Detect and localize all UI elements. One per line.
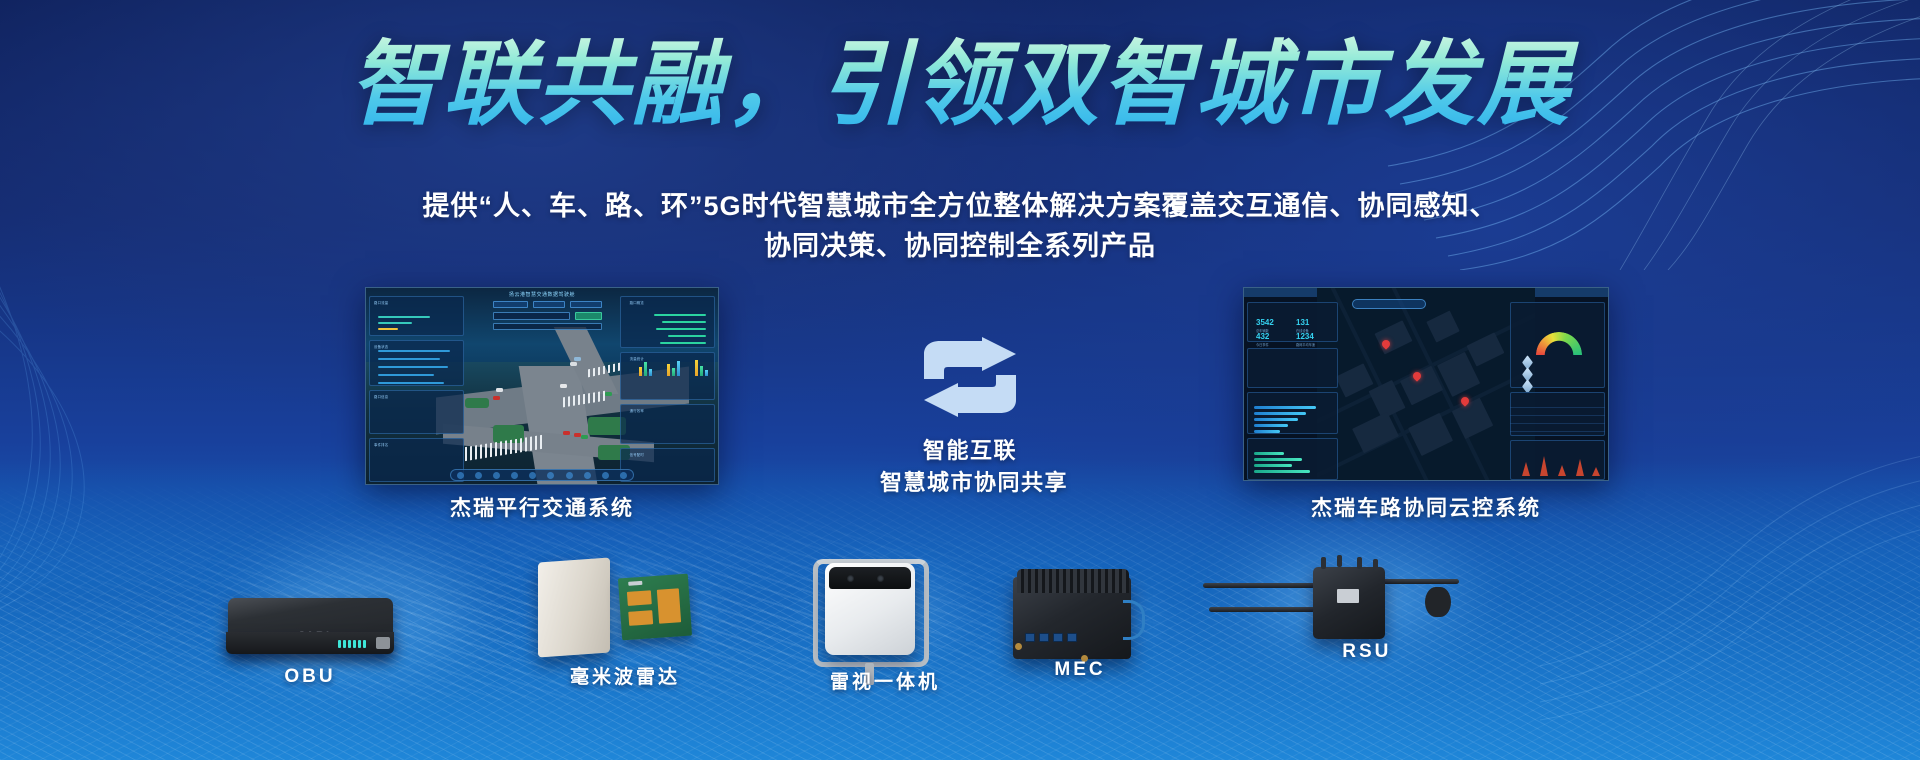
mec-antenna-connector-left [1015, 643, 1022, 650]
exchange-line-1: 智能互联 [880, 435, 1060, 467]
mec-io-ports [1025, 633, 1077, 642]
screenshot-cloud-control-system[interactable]: 杰瑞车路协同云控系统 [1243, 287, 1609, 481]
product-label-mec: MEC [1054, 659, 1105, 681]
subtitle-line-1: 提供“人、车、路、环”5G时代智慧城市全方位整体解决方案覆盖交互通信、协同感知、 [0, 186, 1920, 226]
camera-lens-strip [829, 567, 911, 589]
subtitle-line-2: 协同决策、协同控制全系列产品 [0, 226, 1920, 266]
caption-parallel-traffic-system: 杰瑞平行交通系统 [365, 492, 719, 522]
product-rsu[interactable]: RSU [1245, 545, 1455, 665]
product-label-radar: 毫米波雷达 [570, 662, 680, 689]
page-title: 智联共融，引领双智城市发展 [0, 36, 1920, 135]
rsu-nameplate [1337, 589, 1359, 603]
rsu-enclosure [1313, 567, 1385, 639]
product-lidar-camera[interactable]: 雷视一体机 [795, 545, 975, 695]
camera-lens-left [847, 575, 854, 582]
product-label-cam: 雷视一体机 [830, 667, 940, 694]
rsu-connector-c [1357, 557, 1362, 569]
rsu-dome-antenna [1425, 587, 1451, 617]
left-screen-toolbar[interactable] [450, 469, 633, 481]
radar-enclosure [538, 557, 610, 657]
product-label-obu: OBU [284, 666, 335, 688]
exchange-block: 智能互联 智慧城市协同共享 [880, 335, 1060, 499]
left-screen-title: 扬云港智慧交通数据驾驶舱 [472, 291, 613, 298]
rsu-connector-a [1321, 557, 1326, 569]
page-subtitle: 提供“人、车、路、环”5G时代智慧城市全方位整体解决方案覆盖交互通信、协同感知、… [0, 186, 1920, 266]
caption-cloud-control-system: 杰瑞车路协同云控系统 [1243, 492, 1609, 522]
obu-status-leds [338, 640, 366, 648]
product-label-rsu: RSU [1342, 641, 1391, 663]
map-pin[interactable] [1413, 372, 1421, 383]
map-pin[interactable] [1461, 397, 1469, 408]
screenshot-parallel-traffic-system[interactable]: 扬云港智慧交通数据驾驶舱 路口流量 设备状态 路口信息 事件排名 [365, 287, 719, 485]
two-way-exchange-arrows-icon [918, 335, 1022, 419]
product-obu[interactable]: JARI OBU [210, 580, 410, 690]
rsu-antenna-upper-left [1203, 583, 1315, 588]
obu-front-panel [226, 632, 394, 654]
rsu-connector-d [1373, 559, 1378, 571]
mec-heatsink-fins [1017, 569, 1129, 593]
banner-root: 智联共融，引领双智城市发展 提供“人、车、路、环”5G时代智慧城市全方位整体解决… [0, 0, 1920, 760]
camera-lens-right [877, 575, 884, 582]
rsu-connector-b [1337, 555, 1342, 567]
radar-antenna-board [618, 574, 692, 641]
obu-ethernet-port [376, 637, 390, 649]
product-radar[interactable]: 毫米波雷达 [530, 550, 720, 690]
rsu-antenna-right [1381, 579, 1459, 584]
map-pin[interactable] [1382, 340, 1390, 351]
product-mec[interactable]: MEC [985, 555, 1175, 690]
rsu-antenna-lower-left [1209, 607, 1315, 612]
exchange-line-2: 智慧城市协同共享 [880, 467, 1060, 499]
